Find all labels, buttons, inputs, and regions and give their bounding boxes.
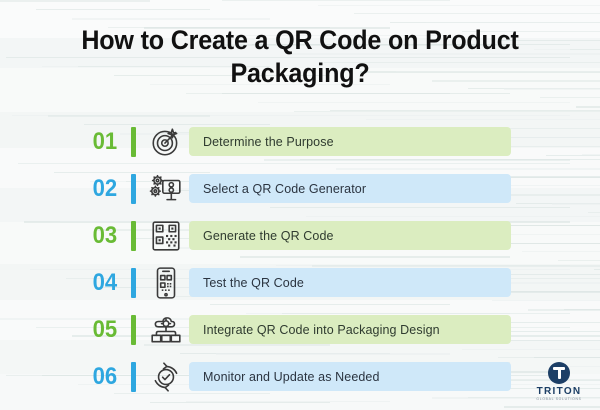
page-title-line-1: How to Create a QR Code on Product	[21, 24, 579, 57]
step-number: 01	[88, 130, 131, 154]
step-accent-bar	[131, 174, 136, 204]
refresh-check-icon	[147, 358, 185, 396]
step-label: Generate the QR Code	[203, 229, 334, 243]
step-accent-bar	[131, 268, 136, 298]
step-number: 02	[88, 177, 131, 201]
step-row: 02Select a QR Code Generator	[0, 165, 600, 212]
step-number: 03	[88, 224, 131, 248]
step-row: 06Monitor and Update as Needed	[0, 353, 600, 400]
step-accent-bar	[131, 127, 136, 157]
logo-tagline: GLOBAL SOLUTIONS	[528, 397, 590, 402]
step-label-pill: Generate the QR Code	[189, 221, 511, 250]
logo-name: TRITON	[528, 386, 590, 397]
step-label: Monitor and Update as Needed	[203, 370, 380, 384]
step-label-pill: Monitor and Update as Needed	[189, 362, 511, 391]
target-icon	[147, 123, 185, 161]
qr-code-icon	[147, 217, 185, 255]
steps-list: 01Determine the Purpose02Select a QR Cod…	[0, 118, 600, 400]
step-label: Test the QR Code	[203, 276, 304, 290]
step-accent-bar	[131, 315, 136, 345]
step-label: Determine the Purpose	[203, 135, 334, 149]
phone-qr-icon	[147, 264, 185, 302]
step-accent-bar	[131, 221, 136, 251]
step-label: Integrate QR Code into Packaging Design	[203, 323, 440, 337]
step-row: 04Test the QR Code	[0, 259, 600, 306]
step-label-pill: Select a QR Code Generator	[189, 174, 511, 203]
step-accent-bar	[131, 362, 136, 392]
step-row: 01Determine the Purpose	[0, 118, 600, 165]
step-label-pill: Determine the Purpose	[189, 127, 511, 156]
step-label-pill: Test the QR Code	[189, 268, 511, 297]
step-label: Select a QR Code Generator	[203, 182, 366, 196]
triton-logo: TRITON GLOBAL SOLUTIONS	[528, 362, 590, 402]
page-title-line-2: Packaging?	[21, 57, 579, 90]
step-row: 03Generate the QR Code	[0, 212, 600, 259]
step-number: 06	[88, 365, 131, 389]
triton-t-mark-icon	[548, 362, 570, 384]
step-label-pill: Integrate QR Code into Packaging Design	[189, 315, 511, 344]
page-title: How to Create a QR Code on Product Packa…	[21, 24, 579, 90]
step-row: 05Integrate QR Code into Packaging Desig…	[0, 306, 600, 353]
monitor-gears-icon	[147, 170, 185, 208]
step-number: 05	[88, 318, 131, 342]
step-number: 04	[88, 271, 131, 295]
network-gear-icon	[147, 311, 185, 349]
infographic-canvas: How to Create a QR Code on Product Packa…	[0, 0, 600, 410]
